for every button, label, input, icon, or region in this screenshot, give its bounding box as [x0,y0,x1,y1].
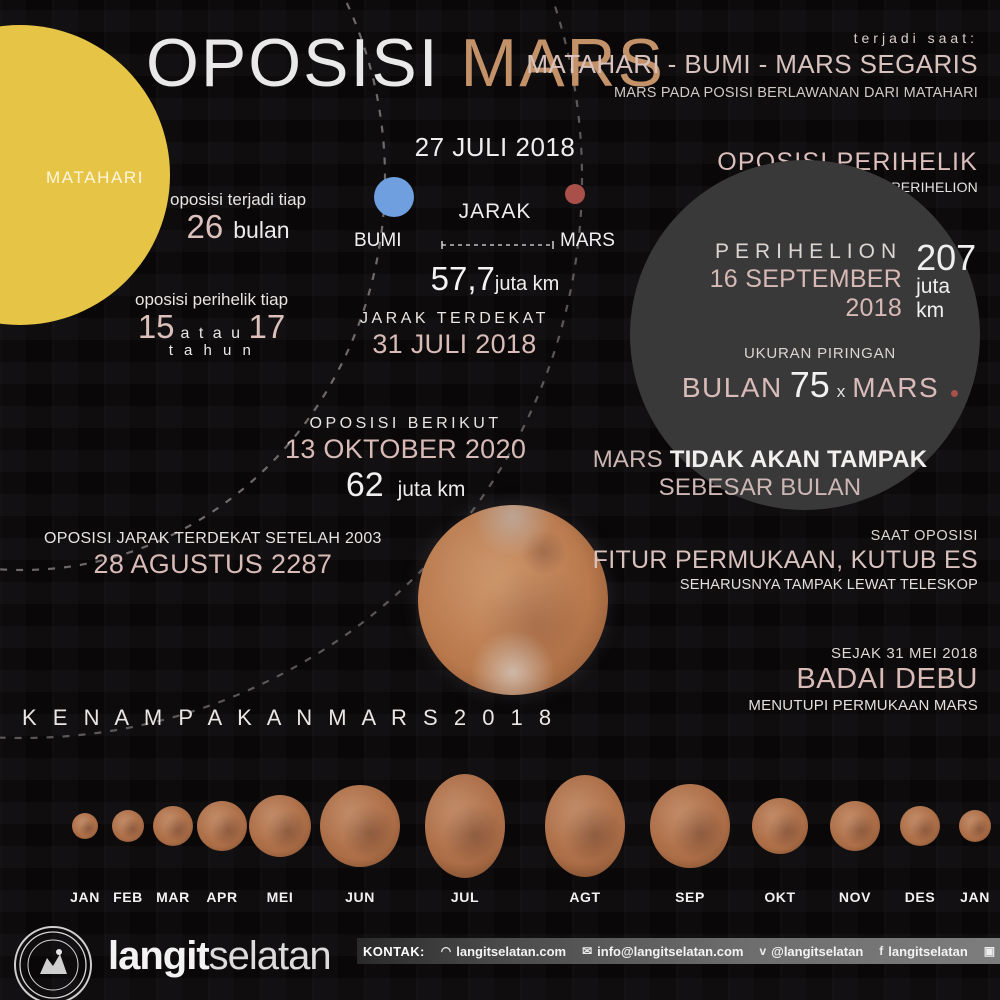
distance-value: 57,7 [431,260,495,297]
tidak-tampak-pre: MARS [593,446,670,473]
month-mars-item: SEP [650,770,730,905]
fitur-caption: SAAT OPOSISI [593,528,978,544]
mars-disc-mei-4 [249,795,311,857]
fitur-headline: FITUR PERMUKAAN, KUTUB ES [593,546,978,575]
mars-disc-holder [425,770,505,882]
monthly-mars-size-chart: JANFEBMARAPRMEIJUNJULAGTSEPOKTNOVDESJAN [40,755,980,905]
mars-disc-jan-12 [959,810,991,842]
terdekat-setelah-2003-block: OPOSISI JARAK TERDEKAT SETELAH 2003 28 A… [44,530,382,580]
jarak-terdekat-date: 31 JULI 2018 [360,329,549,360]
contact-item[interactable]: flangitselatan [879,944,967,959]
contact-item[interactable]: ᴠ@langitselatan [759,944,863,959]
oposisi-berikut-date: 13 OKTOBER 2020 [285,434,526,465]
kontak-label: KONTAK: [363,944,425,959]
mars-disc-sep-8 [650,784,730,868]
mars-disc-holder [650,770,730,882]
contact-item[interactable]: ✉info@langitselatan.com [582,944,743,959]
jarak-terdekat-block: JARAK TERDEKAT 31 JULI 2018 [360,310,549,360]
perihelion-date: 16 SEPTEMBER 2018 [660,265,902,323]
oposisi-berikut-value: 62 [346,466,384,505]
contact-text: info@langitselatan.com [597,944,743,959]
perihelik-value-1: 15 [138,308,175,346]
oposisi-tiap-value: 26 [187,208,224,246]
ukuran-piringan-block: UKURAN PIRINGAN BULAN 75 x MARS [660,345,980,406]
tidak-tampak-bold: TIDAK AKAN TAMPAK [670,446,928,473]
month-mars-item: OKT [740,770,820,905]
contact-text: @langitselatan [771,944,863,959]
mars-disc-holder [740,770,820,882]
perihelik-value-2: 17 [249,308,286,346]
mars-disc-nov-10 [830,801,880,851]
opposition-date: 27 JULI 2018 [330,132,660,163]
month-mars-item: MEI [240,770,320,905]
earth-label: BUMI [354,230,402,252]
instagram-icon: ▣ [984,945,995,957]
fitur-sub: SEHARUSNYA TAMPAK LEWAT TELESKOP [593,577,978,593]
mars-label: MARS [560,230,615,252]
mars-disc-holder [320,770,400,882]
perihelion-distance-value: 207 [916,241,980,275]
fitur-permukaan-block: SAAT OPOSISI FITUR PERMUKAAN, KUTUB ES S… [593,528,978,593]
oposisi-tiap-unit: bulan [233,217,289,244]
terdekat-setelah-caption: OPOSISI JARAK TERDEKAT SETELAH 2003 [44,530,382,548]
perihelik-tiap-caption: oposisi perihelik tiap [135,290,288,310]
oposisi-berikut-caption: OPOSISI BERIKUT [285,415,526,433]
mars-photo-disc [418,505,608,695]
tidak-tampak-post: SEBESAR BULAN [659,474,862,501]
mail-icon: ✉ [582,945,592,957]
badai-debu-block: SEJAK 31 MEI 2018 BADAI DEBU MENUTUPI PE… [748,645,978,714]
month-label: JAN [935,889,1000,905]
mars-disc-des-11 [900,806,940,846]
berlawanan-subline: MARS PADA POSISI BERLAWANAN DARI MATAHAR… [526,85,978,101]
top-right-block: terjadi saat: MATAHARI - BUMI - MARS SEG… [526,30,978,101]
rss-icon: ◠ [441,945,451,957]
twitter-icon: ᴠ [759,945,766,957]
times-symbol: x [837,382,846,402]
mars-disc-holder [935,770,1000,882]
contact-bar: KONTAK: ◠langitselatan.com✉info@langitse… [357,938,1000,964]
mars-small-dot-icon [951,390,958,397]
badai-sub: MENUTUPI PERMUKAAN MARS [748,697,978,714]
facebook-icon: f [879,945,883,957]
badai-caption: SEJAK 31 MEI 2018 [748,645,978,662]
size-factor: 75 [790,364,830,406]
mars-disc-jul-6 [425,774,505,878]
contact-text: langitselatan [888,944,967,959]
terdekat-setelah-date: 28 AGUSTUS 2287 [44,549,382,580]
perihelion-block: PERIHELION 16 SEPTEMBER 2018 207 juta km [660,240,980,323]
month-label: AGT [545,889,625,905]
kenampakan-title: K E N A M P A K A N M A R S 2 0 1 8 [22,705,556,731]
brand-selatan: selatan [209,934,331,978]
month-label: JUN [320,889,400,905]
perihelik-conjunction: a t a u [181,325,243,343]
opposition-distance-diagram: 27 JULI 2018 JARAK BUMI MARS 57,7juta km [330,132,660,163]
tidak-akan-tampak-statement: MARS TIDAK AKAN TAMPAK SEBESAR BULAN [540,446,980,502]
oposisi-tiap-block: oposisi terjadi tiap 26 bulan [170,190,306,246]
oposisi-tiap-caption: oposisi terjadi tiap [170,190,306,210]
month-mars-item: JUN [320,770,400,905]
mars-disc-holder [240,770,320,882]
month-label: JUL [425,889,505,905]
jarak-label: JARAK [330,200,660,224]
distance-value-row: 57,7juta km [330,260,660,298]
bulan-word: BULAN [682,372,783,404]
oposisi-berikut-block: OPOSISI BERIKUT 13 OKTOBER 2020 62 juta … [285,415,526,505]
contact-item[interactable]: ◠langitselatan.com [441,944,566,959]
month-label: SEP [650,889,730,905]
langitselatan-logo-icon [14,926,92,1000]
title-word-oposisi: OPOSISI [146,25,440,101]
contact-item[interactable]: ▣langitselatanmedia [984,944,1000,959]
sun-label: MATAHARI [46,168,144,188]
mars-disc-jun-5 [320,785,400,867]
perihelion-distance-unit: juta km [916,275,980,323]
month-mars-item: JAN [935,770,1000,905]
ukuran-piringan-caption: UKURAN PIRINGAN [660,345,980,362]
distance-measure-line [440,240,555,250]
perihelik-tiap-block: oposisi perihelik tiap 15 a t a u 17 t a… [135,290,288,359]
brand-langit: langit [108,934,209,978]
brand-wordmark: langitselatan [108,934,331,979]
segaris-headline: MATAHARI - BUMI - MARS SEGARIS [526,49,978,80]
mars-disc-agt-7 [545,775,625,877]
terjadi-saat-kicker: terjadi saat: [526,30,978,46]
perihelion-label: PERIHELION [660,240,902,264]
mars-disc-okt-9 [752,798,808,854]
mars-disc-holder [545,770,625,882]
month-label: MEI [240,889,320,905]
distance-unit: juta km [495,273,559,295]
infographic-poster: MATAHARI OPOSISI MARS terjadi saat: MATA… [0,0,1000,1000]
contact-text: langitselatan.com [456,944,566,959]
badai-headline: BADAI DEBU [748,663,978,696]
month-mars-item: AGT [545,770,625,905]
mars-word: MARS [852,372,939,404]
month-mars-item: JUL [425,770,505,905]
jarak-terdekat-caption: JARAK TERDEKAT [360,310,549,328]
oposisi-berikut-unit: juta km [398,478,466,502]
month-label: OKT [740,889,820,905]
